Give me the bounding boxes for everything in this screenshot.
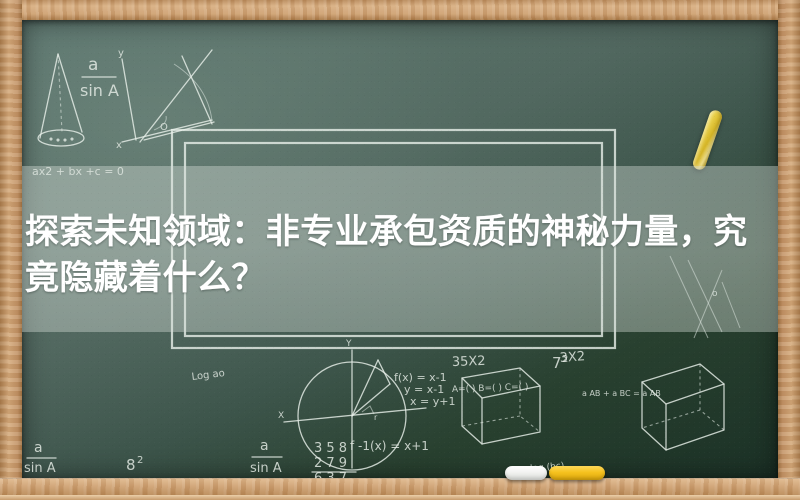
svg-text:O: O: [160, 122, 168, 133]
svg-text:X: X: [278, 411, 284, 421]
svg-text:f -1(x) = x+1: f -1(x) = x+1: [350, 439, 429, 453]
svg-text:2: 2: [562, 354, 568, 365]
blackboard-surface: a sin A y x O ax2 + bx +c = 0: [22, 20, 778, 478]
svg-text:r: r: [374, 413, 378, 422]
svg-text:y: y: [118, 48, 124, 59]
svg-text:Log ao: Log ao: [191, 368, 225, 383]
svg-text:35X2: 35X2: [452, 354, 486, 370]
yellow-chalk-on-board[interactable]: [691, 109, 723, 172]
frame-left-rail: [0, 0, 22, 500]
svg-text:sin A: sin A: [250, 461, 282, 476]
svg-text:6 3 7: 6 3 7: [314, 471, 347, 478]
svg-text:x = y+1: x = y+1: [410, 395, 455, 408]
svg-text:sin A: sin A: [24, 461, 56, 476]
svg-text:8: 8: [126, 456, 136, 474]
svg-text:A=( ) B=( ) C=( ): A=( ) B=( ) C=( ): [452, 382, 529, 395]
chalk-ledge: [0, 478, 800, 500]
svg-text:a: a: [34, 440, 43, 456]
svg-text:Y: Y: [345, 339, 352, 349]
svg-text:y = x-1: y = x-1: [404, 383, 444, 396]
svg-text:a AB + a BC = a AB: a AB + a BC = a AB: [582, 389, 661, 398]
page-title: 探索未知领域：非专业承包资质的神秘力量，究竟隐藏着什么？: [25, 209, 772, 301]
svg-text:ax2 + bx +c = 0: ax2 + bx +c = 0: [32, 165, 124, 178]
svg-text:2 7 9: 2 7 9: [314, 456, 347, 471]
frame-right-rail: [778, 0, 800, 500]
svg-text:a: a: [88, 55, 98, 75]
ledge-lip: [0, 495, 800, 500]
chalkboard-poster: a sin A y x O ax2 + bx +c = 0: [0, 0, 800, 500]
svg-text:a: a: [260, 438, 269, 454]
svg-text:x: x: [116, 140, 122, 151]
svg-text:sin A: sin A: [80, 81, 119, 100]
svg-text:2: 2: [137, 455, 143, 466]
yellow-chalk-on-ledge[interactable]: [549, 466, 605, 480]
svg-text:3 5 8: 3 5 8: [314, 441, 347, 456]
svg-text:f(x) = x-1: f(x) = x-1: [394, 371, 447, 384]
white-chalk-on-ledge[interactable]: [505, 466, 547, 480]
frame-top-rail: [0, 0, 800, 20]
svg-text:7: 7: [552, 354, 562, 372]
svg-text:3X2: 3X2: [559, 349, 585, 366]
